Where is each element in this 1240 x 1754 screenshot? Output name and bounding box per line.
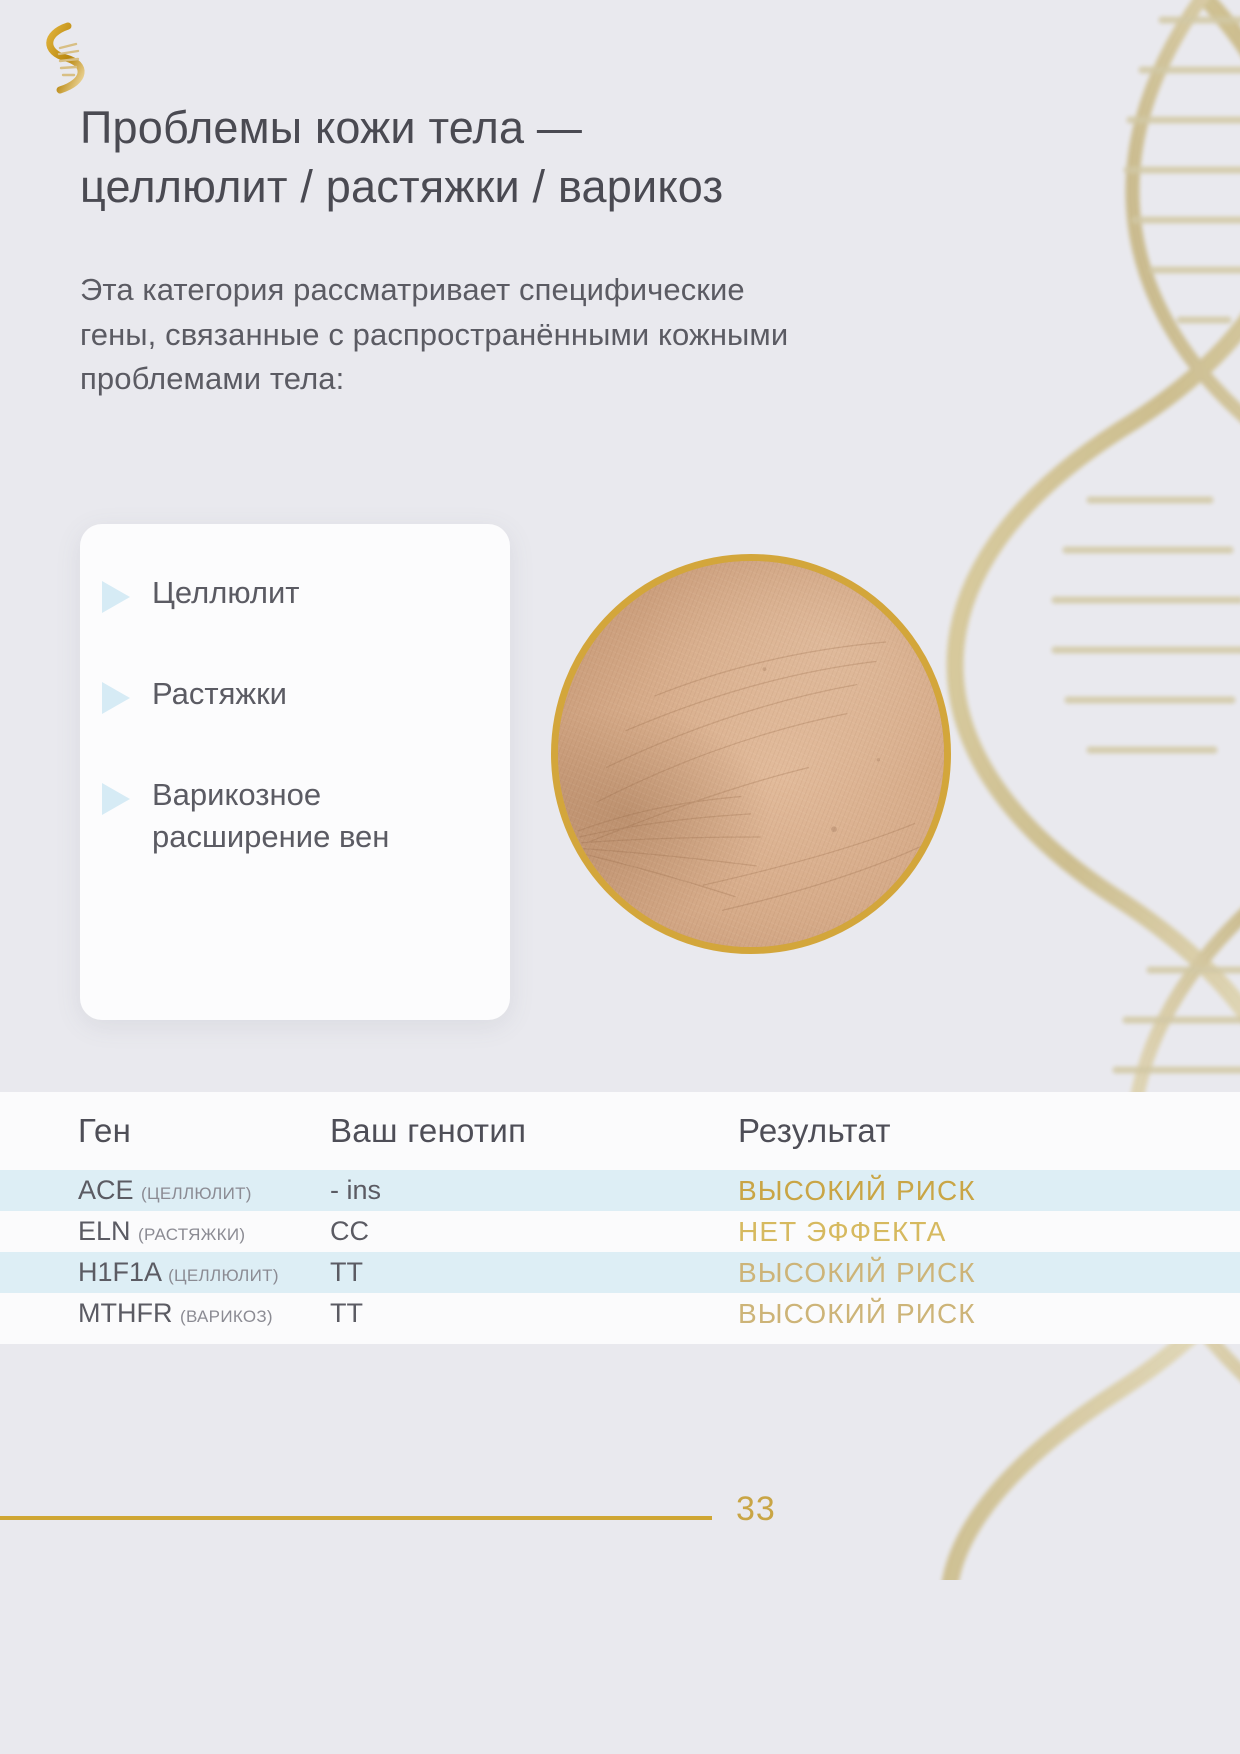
gene-note: (ВАРИКОЗ): [180, 1307, 273, 1326]
list-item-label: Целлюлит: [152, 572, 300, 615]
bullet-card: Целлюлит Растяжки Варикозное расширение …: [80, 524, 510, 1020]
page-number: 33: [736, 1490, 776, 1529]
photo-grain-layer: [558, 561, 944, 947]
list-item: Варикозное расширение вен: [102, 774, 492, 860]
triangle-bullet-icon: [102, 682, 130, 714]
cell-genotype: TT: [330, 1257, 738, 1288]
cell-result: ВЫСОКИЙ РИСК: [738, 1298, 1240, 1330]
cell-gene: ACE (ЦЕЛЛЮЛИТ): [0, 1175, 330, 1206]
cell-gene: MTHFR (ВАРИКОЗ): [0, 1298, 330, 1329]
column-header-gene: Ген: [0, 1112, 330, 1150]
column-header-genotype: Ваш генотип: [330, 1112, 738, 1150]
gene-note: (ЦЕЛЛЮЛИТ): [141, 1184, 252, 1203]
skin-closeup-photo: [551, 554, 951, 954]
column-header-result: Результат: [738, 1112, 1240, 1150]
gene-name: H1F1A: [78, 1257, 161, 1287]
cell-genotype: CC: [330, 1216, 738, 1247]
gene-note: (РАСТЯЖКИ): [138, 1225, 245, 1244]
triangle-bullet-icon: [102, 581, 130, 613]
table-row: ACE (ЦЕЛЛЮЛИТ) - ins ВЫСОКИЙ РИСК: [0, 1170, 1240, 1211]
gene-note: (ЦЕЛЛЮЛИТ): [168, 1266, 279, 1285]
gene-name: MTHFR: [78, 1298, 172, 1328]
cell-result: ВЫСОКИЙ РИСК: [738, 1257, 1240, 1289]
cell-gene: H1F1A (ЦЕЛЛЮЛИТ): [0, 1257, 330, 1288]
table-row: ELN (РАСТЯЖКИ) CC НЕТ ЭФФЕКТА: [0, 1211, 1240, 1252]
list-item-label: Растяжки: [152, 673, 287, 716]
list-item: Целлюлит: [102, 572, 492, 615]
dna-helix-icon: [30, 18, 92, 96]
triangle-bullet-icon: [102, 783, 130, 815]
table-header-row: Ген Ваш генотип Результат: [0, 1092, 1240, 1170]
gene-name: ELN: [78, 1216, 131, 1246]
genotype-table: Ген Ваш генотип Результат ACE (ЦЕЛЛЮЛИТ)…: [0, 1092, 1240, 1344]
page-title-line-2: целлюлит / растяжки / варикоз: [80, 157, 940, 216]
bullet-list: Целлюлит Растяжки Варикозное расширение …: [102, 572, 492, 859]
cell-result: НЕТ ЭФФЕКТА: [738, 1216, 1240, 1248]
cell-genotype: - ins: [330, 1175, 738, 1206]
list-item-label: Варикозное расширение вен: [152, 774, 492, 860]
slide-page: Проблемы кожи тела — целлюлит / растяжки…: [0, 0, 1240, 1754]
gene-name: ACE: [78, 1175, 134, 1205]
page-title: Проблемы кожи тела — целлюлит / растяжки…: [80, 98, 940, 217]
list-item: Растяжки: [102, 673, 492, 716]
cell-genotype: TT: [330, 1298, 738, 1329]
table-row: MTHFR (ВАРИКОЗ) TT ВЫСОКИЙ РИСК: [0, 1293, 1240, 1334]
cell-result: ВЫСОКИЙ РИСК: [738, 1175, 1240, 1207]
page-title-line-1: Проблемы кожи тела —: [80, 98, 940, 157]
table-row: H1F1A (ЦЕЛЛЮЛИТ) TT ВЫСОКИЙ РИСК: [0, 1252, 1240, 1293]
intro-paragraph: Эта категория рассматривает специфически…: [80, 268, 800, 402]
cell-gene: ELN (РАСТЯЖКИ): [0, 1216, 330, 1247]
footer-rule: [0, 1516, 712, 1520]
